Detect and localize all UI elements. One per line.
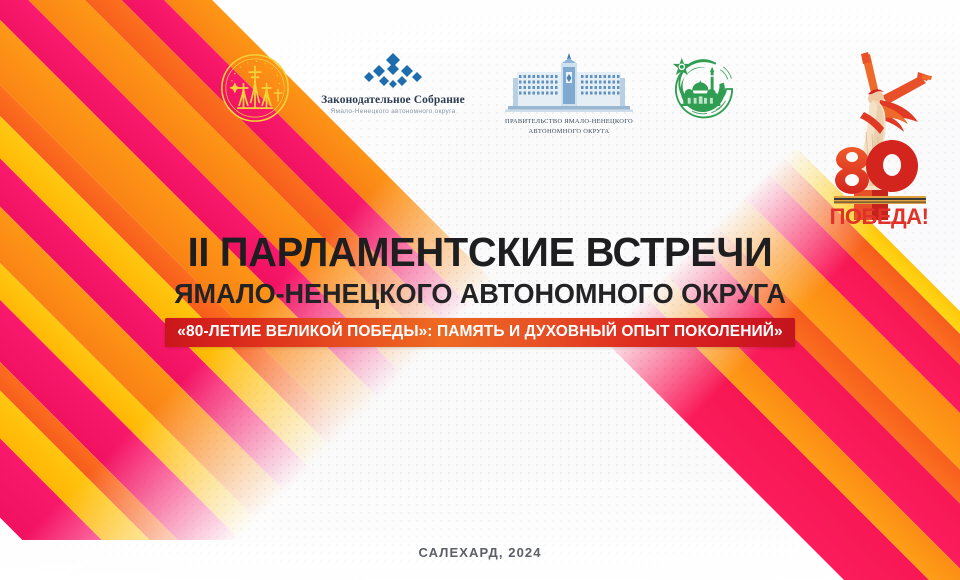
title-line-1: II ПАРЛАМЕНТСКИЕ ВСТРЕЧИ [14, 232, 945, 274]
government-caption-line2: АВТОНОМНОГО ОКРУГА [529, 128, 610, 135]
svg-text:٣١٠: ٣١٠ [697, 106, 704, 111]
poster-canvas: Законодательное Собрание Ямало-Ненецкого… [0, 0, 960, 580]
logo-legislative-assembly: Законодательное Собрание Ямало-Ненецкого… [313, 52, 473, 115]
motherland-calls-statue-icon: ПОБЕДА! [816, 42, 942, 234]
assembly-caption-sub: Ямало-Ненецкого автономного округа [330, 108, 455, 115]
government-caption: ПРАВИТЕЛЬСТВО ЯМАЛО-НЕНЕЦКОГО АВТОНОМНОГ… [505, 117, 633, 137]
footer-location-text: САЛЕХАРД, 2024 [418, 545, 541, 560]
victory-80-emblem: ПОБЕДА! [816, 42, 942, 234]
crescent-mosque-emblem-icon: ٣١٠ [667, 52, 741, 126]
footer-location: САЛЕХАРД, 2024 [0, 544, 960, 562]
title-line-2: ЯМАЛО-НЕНЕЦКОГО АВТОНОМНОГО ОКРУГА [7, 280, 953, 309]
victory-word-text: ПОБЕДА! [830, 204, 929, 229]
theme-ribbon: «80-ЛЕТИЕ ВЕЛИКОЙ ПОБЕДЫ»: ПАМЯТЬ И ДУХО… [165, 318, 794, 347]
theme-ribbon-text: «80-ЛЕТИЕ ВЕЛИКОЙ ПОБЕДЫ»: ПАМЯТЬ И ДУХО… [177, 323, 782, 340]
logo-government: ПРАВИТЕЛЬСТВО ЯМАЛО-НЕНЕЦКОГО АВТОНОМНОГ… [493, 52, 645, 137]
headline-block: II ПАРЛАМЕНТСКИЕ ВСТРЕЧИ ЯМАЛО-НЕНЕЦКОГО… [0, 232, 960, 347]
logo-eparchy [217, 52, 293, 124]
government-building-icon [496, 52, 642, 114]
yamal-ornament-icon [364, 52, 422, 92]
assembly-caption-main: Законодательное Собрание [321, 94, 465, 106]
logo-muslim-board: ٣١٠ [665, 52, 743, 126]
government-caption-line1: ПРАВИТЕЛЬСТВО ЯМАЛО-НЕНЕЦКОГО [505, 118, 633, 125]
orthodox-diocese-emblem-icon [219, 52, 291, 124]
